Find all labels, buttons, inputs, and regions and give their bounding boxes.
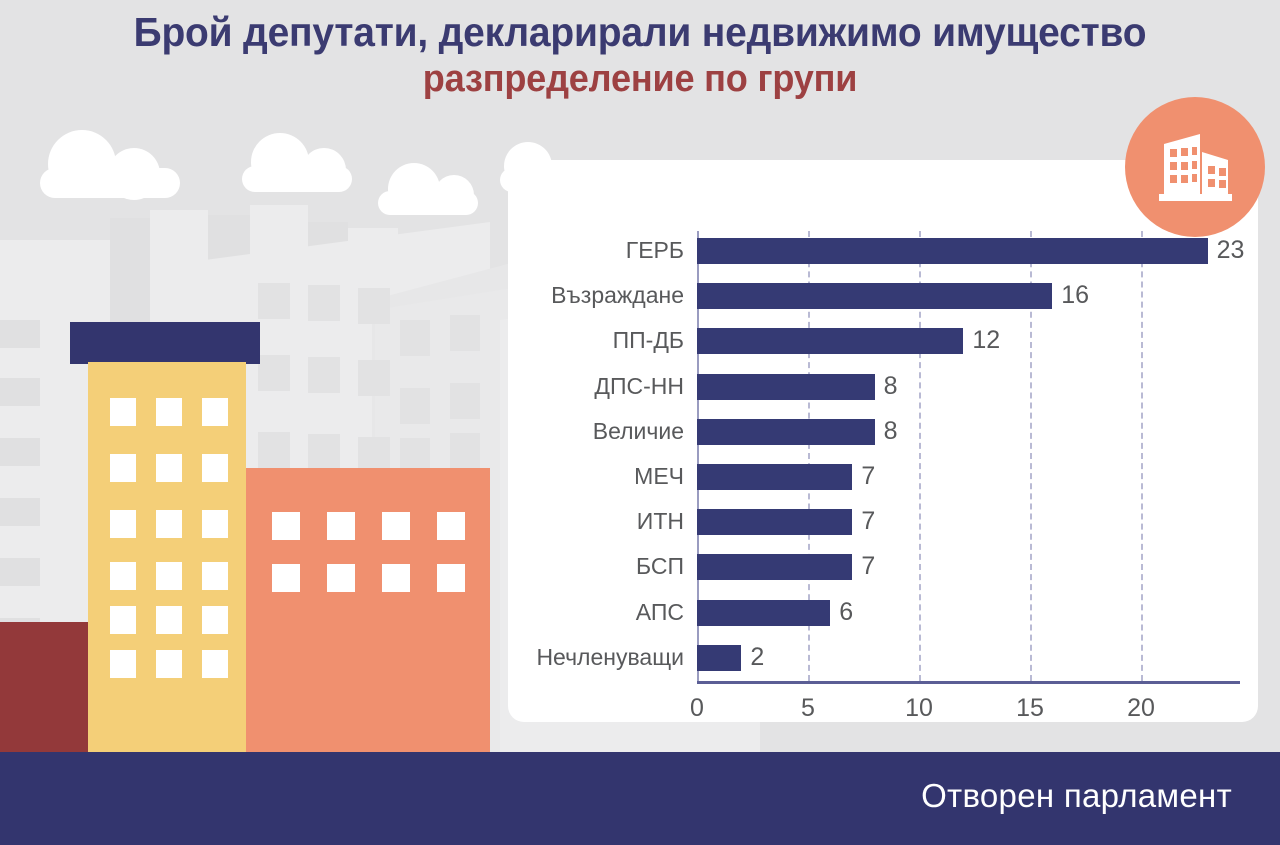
building-roof-navy [70,322,260,364]
building-darkred [0,622,88,762]
bar-rows: ГЕРБ23Възраждане16ПП-ДБ12ДПС-НН8Величие8… [697,231,1240,681]
bar-value-label: 7 [861,551,875,581]
bar-value-label: 23 [1217,235,1245,265]
bar-row: МЕЧ7 [697,464,1240,490]
bar[interactable] [697,283,1052,309]
x-tick-15: 15 [1016,693,1044,723]
x-tick-0: 0 [690,693,704,723]
bar-value-label: 7 [861,506,875,536]
x-tick-5: 5 [801,693,815,723]
bar-row: ГЕРБ23 [697,238,1240,264]
bar-row: ДПС-НН8 [697,374,1240,400]
category-label: МЕЧ [634,461,684,491]
bar[interactable] [697,509,852,535]
bar-value-label: 6 [839,597,853,627]
buildings-badge [1125,97,1265,237]
bar-value-label: 7 [861,461,875,491]
bar[interactable] [697,645,741,671]
bar-row: Възраждане16 [697,283,1240,309]
x-tick-20: 20 [1127,693,1155,723]
bar-value-label: 8 [884,371,898,401]
bar[interactable] [697,600,830,626]
x-tick-10: 10 [905,693,933,723]
bar-row: Величие8 [697,419,1240,445]
bar[interactable] [697,374,875,400]
bar-value-label: 8 [884,416,898,446]
bar-value-label: 12 [972,325,1000,355]
category-label: БСП [636,551,684,581]
chart-card: 05101520 ГЕРБ23Възраждане16ПП-ДБ12ДПС-НН… [508,160,1258,722]
footer-brand: Отворен парламент [921,776,1232,816]
category-label: ДПС-НН [594,371,684,401]
bar[interactable] [697,419,875,445]
bar-value-label: 2 [750,642,764,672]
bar-row: ИТН7 [697,509,1240,535]
bar-chart: 05101520 ГЕРБ23Възраждане16ПП-ДБ12ДПС-НН… [508,160,1258,722]
category-label: Величие [593,416,684,446]
infographic-canvas: Брой депутати, декларирали недвижимо иму… [0,0,1280,845]
category-label: Нечленуващи [536,642,684,672]
bar[interactable] [697,328,963,354]
category-label: ИТН [637,506,684,536]
footer-bar: Отворен парламент [0,752,1280,845]
buildings-icon [1156,130,1234,204]
category-label: Възраждане [551,280,684,310]
category-label: ГЕРБ [626,235,684,265]
bar-row: Нечленуващи2 [697,645,1240,671]
bar-row: БСП7 [697,554,1240,580]
bar-row: ПП-ДБ12 [697,328,1240,354]
bar[interactable] [697,464,852,490]
category-label: АПС [636,597,684,627]
plot-area: 05101520 ГЕРБ23Възраждане16ПП-ДБ12ДПС-НН… [697,231,1240,684]
bar-row: АПС6 [697,600,1240,626]
x-axis [697,681,1240,684]
bar[interactable] [697,238,1208,264]
category-label: ПП-ДБ [613,325,684,355]
bar-value-label: 16 [1061,280,1089,310]
bar[interactable] [697,554,852,580]
